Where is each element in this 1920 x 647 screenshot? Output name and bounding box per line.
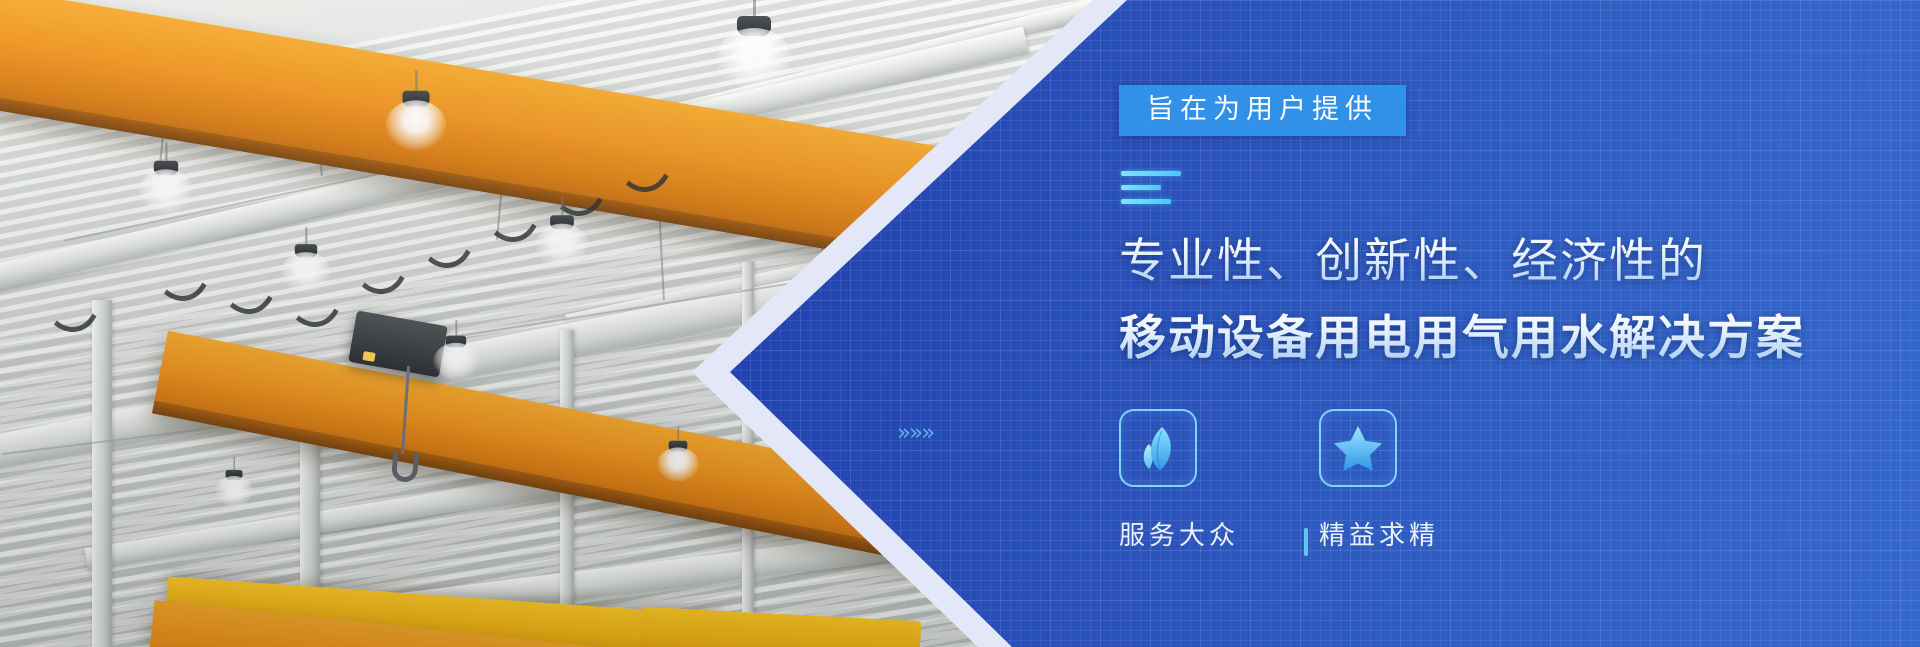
feature-item-excellence: 精益求精 (1319, 409, 1519, 552)
bar-medium (1121, 199, 1171, 204)
headline: 专业性、创新性、经济性的 移动设备用电用气用水解决方案 (1119, 228, 1805, 371)
hero-banner: »»» 旨在为用户提供 专业性、创新性、经济性的 移动设备用电用气用水解决方案 (0, 0, 1920, 647)
banner-content: »»» 旨在为用户提供 专业性、创新性、经济性的 移动设备用电用气用水解决方案 (1119, 0, 1919, 647)
leaf-icon (1119, 409, 1197, 487)
feature-list: 服务大众 精益求精 (1119, 409, 1519, 552)
star-icon (1319, 409, 1397, 487)
feature-divider (1304, 528, 1308, 556)
bar-short (1121, 185, 1161, 190)
bar-decoration (1121, 171, 1181, 213)
chevron-arrows-icon: »»» (897, 420, 933, 446)
feature-label: 服务大众 (1119, 515, 1319, 552)
headline-line-1: 专业性、创新性、经济性的 (1119, 228, 1805, 295)
eyebrow-tag: 旨在为用户提供 (1119, 85, 1406, 136)
bar-long (1121, 171, 1181, 176)
feature-label: 精益求精 (1319, 515, 1519, 552)
headline-line-2: 移动设备用电用气用水解决方案 (1119, 305, 1805, 372)
feature-item-service: 服务大众 (1119, 409, 1319, 552)
